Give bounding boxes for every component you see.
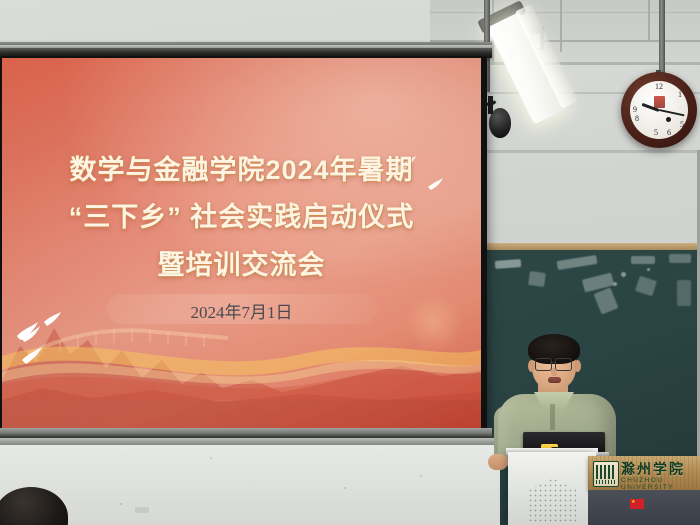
presenter-ear — [574, 360, 581, 372]
slide-date: 2024年7月1日 — [2, 298, 481, 323]
clock-minute-hand — [659, 109, 685, 116]
presenter-eyebrow — [536, 354, 550, 357]
university-name-en: CHUZHOU UNIVERSITY — [621, 477, 700, 491]
clock-center-pin — [666, 117, 671, 122]
chalkboard-rail — [487, 243, 700, 250]
projection-screen-frame: 数学与金融学院2024年暑期 “三下乡” 社会实践启动仪式 暨培训交流会 202… — [0, 56, 487, 432]
slide-title-line-1: 数学与金融学院2024年暑期 — [2, 148, 481, 187]
emblem-year — [596, 480, 615, 484]
ceiling-rail — [648, 0, 650, 40]
microphone-stem — [488, 96, 493, 114]
presenter-mouth — [548, 377, 561, 383]
microphone-pole — [659, 0, 665, 78]
glasses-bridge — [550, 362, 555, 363]
university-emblem-icon — [593, 461, 619, 487]
university-plaque: 滁州学院 CHUZHOU UNIVERSITY — [588, 456, 700, 490]
clock-number: 1 — [678, 90, 682, 99]
whiteboard-marker-tray — [135, 507, 149, 513]
university-name-cn: 滁州学院 — [621, 459, 685, 479]
clock-number: 6 — [667, 128, 671, 137]
clock-number: 9 — [633, 105, 637, 114]
classroom-scene: 12 1 5 6 5 9 8 — [0, 0, 700, 525]
glasses-icon — [555, 358, 572, 371]
flag-star: ★ — [631, 500, 635, 505]
clock-number: 8 — [635, 114, 639, 123]
presenter-placket — [550, 404, 555, 430]
wall-clock: 12 1 5 6 5 9 8 — [621, 72, 697, 148]
presenter-nose — [551, 368, 557, 376]
emblem-bars — [596, 465, 615, 479]
lectern-lower-panel — [588, 490, 700, 525]
projection-screen: 数学与金融学院2024年暑期 “三下乡” 社会实践启动仪式 暨培训交流会 202… — [2, 58, 481, 428]
presenter-ear — [528, 360, 535, 372]
clock-face: 12 1 5 6 5 9 8 — [630, 81, 688, 139]
whiteboard — [0, 445, 500, 525]
glasses-icon — [535, 358, 552, 371]
dove-icon — [20, 344, 46, 366]
clock-number: 12 — [655, 82, 663, 91]
presenter-hand — [488, 454, 508, 470]
projection-screen-rail — [0, 438, 497, 445]
slide-title-line-2: “三下乡” 社会实践启动仪式 — [2, 195, 481, 234]
clock-number: 5 — [654, 128, 658, 137]
presenter-eyebrow — [556, 354, 570, 357]
clock-number: 5 — [680, 120, 684, 129]
clock-brand-logo — [654, 96, 665, 108]
slide-title-line-3: 暨培训交流会 — [2, 243, 481, 282]
